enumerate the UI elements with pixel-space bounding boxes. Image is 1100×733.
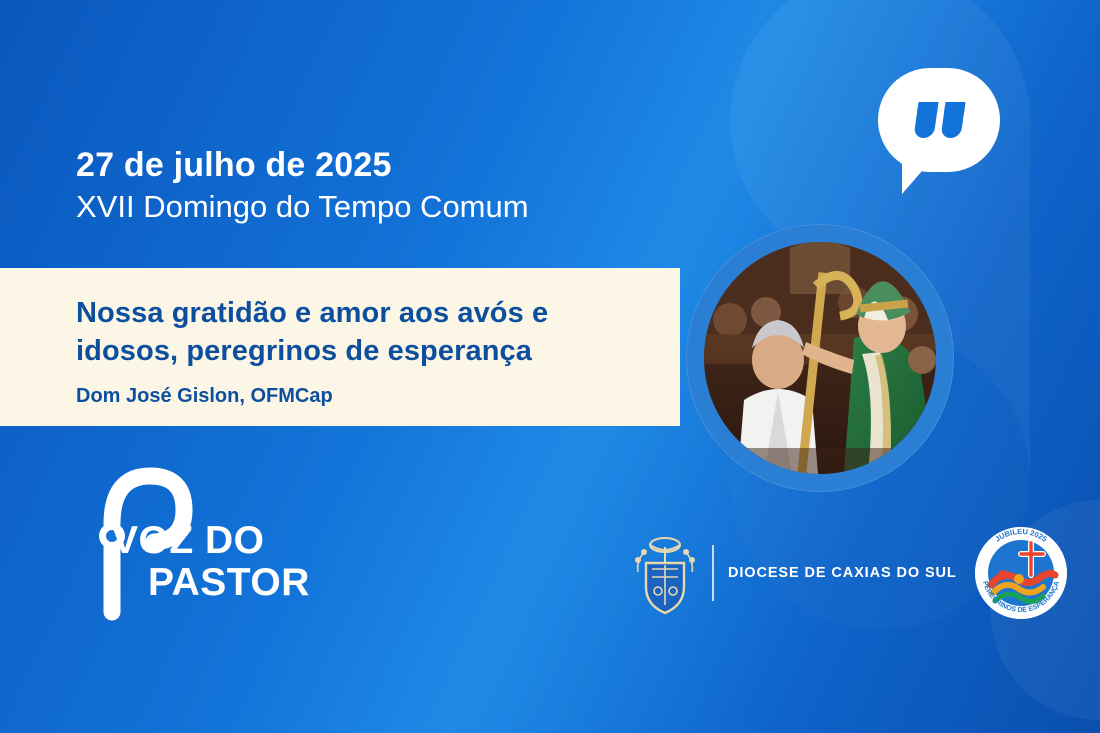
brand-line-1: VOZ DO [112, 520, 310, 562]
poster-canvas: 27 de julho de 2025 XVII Domingo do Temp… [0, 0, 1100, 733]
brand-logo: VOZ DO PASTOR [76, 462, 396, 622]
bubble-quote-marks [878, 68, 1000, 172]
diocese-name: DIOCESE DE CAXIAS DO SUL [728, 565, 957, 581]
jubilee-seal-icon: JUBILEU 2025 PEREGRINOS DE ESPERANÇA [975, 527, 1067, 619]
title-band: Nossa gratidão e amor aos avós e idosos,… [0, 268, 680, 426]
title-line-1: Nossa gratidão e amor aos avós e [76, 294, 640, 332]
title-line-2: idosos, peregrinos de esperança [76, 332, 640, 370]
quote-bubble-icon [878, 68, 1000, 172]
poster-date: 27 de julho de 2025 [76, 145, 716, 185]
date-block: 27 de julho de 2025 XVII Domingo do Temp… [76, 145, 716, 227]
brand-text: VOZ DO PASTOR [112, 520, 310, 604]
photo-ring [686, 224, 954, 492]
coat-of-arms-icon [628, 529, 702, 617]
bishop-blessing-photo [704, 242, 936, 474]
logo-divider [712, 545, 714, 601]
author-name: Dom José Gislon, OFMCap [76, 385, 640, 408]
liturgical-day: XVII Domingo do Tempo Comum [76, 187, 716, 227]
footer-logos: DIOCESE DE CAXIAS DO SUL [628, 525, 1067, 621]
brand-line-2: PASTOR [112, 562, 310, 604]
